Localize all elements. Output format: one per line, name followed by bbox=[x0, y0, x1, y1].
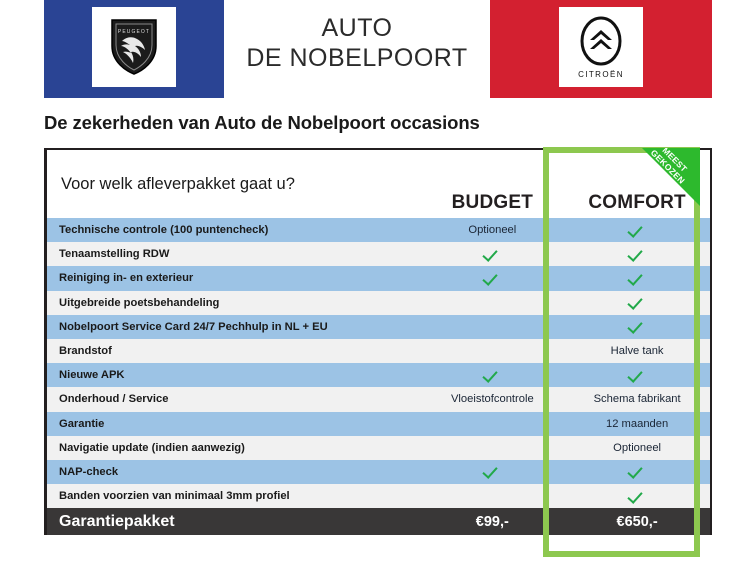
feature-value-budget: Optioneel bbox=[420, 218, 564, 242]
table-row: Nobelpoort Service Card 24/7 Pechhulp in… bbox=[47, 315, 710, 339]
check-icon bbox=[564, 460, 710, 484]
footer-price-comfort: €650,- bbox=[564, 514, 710, 530]
peugeot-brand-block: PEUGEOT bbox=[44, 0, 224, 98]
page-title: De zekerheden van Auto de Nobelpoort occ… bbox=[44, 112, 480, 134]
citroen-brand-block: CITROËN bbox=[490, 0, 712, 98]
feature-value-comfort: 12 maanden bbox=[564, 412, 710, 436]
check-icon bbox=[564, 484, 710, 508]
feature-value-comfort: Schema fabrikant bbox=[564, 387, 710, 411]
check-icon bbox=[564, 291, 710, 315]
check-icon bbox=[420, 460, 564, 484]
table-row: NAP-check bbox=[47, 460, 710, 484]
table-row: Uitgebreide poetsbehandeling bbox=[47, 291, 710, 315]
feature-value-budget bbox=[420, 339, 564, 363]
table-row: Navigatie update (indien aanwezig)Option… bbox=[47, 436, 710, 460]
feature-label: Nobelpoort Service Card 24/7 Pechhulp in… bbox=[47, 321, 420, 333]
check-icon-glyph bbox=[629, 224, 646, 237]
feature-value-budget: Vloeistofcontrole bbox=[420, 387, 564, 411]
feature-label: Tenaamstelling RDW bbox=[47, 248, 420, 260]
check-icon bbox=[420, 363, 564, 387]
feature-value-budget bbox=[420, 315, 564, 339]
footer-label: Garantiepakket bbox=[47, 513, 420, 531]
check-icon-glyph bbox=[484, 248, 501, 261]
feature-label: Technische controle (100 puntencheck) bbox=[47, 224, 420, 236]
feature-label: Navigatie update (indien aanwezig) bbox=[47, 442, 420, 454]
feature-label: Onderhoud / Service bbox=[47, 393, 420, 405]
check-icon-glyph bbox=[484, 465, 501, 478]
company-title-line-1: AUTO bbox=[322, 13, 393, 43]
feature-value-comfort: Halve tank bbox=[564, 339, 710, 363]
table-row: Onderhoud / ServiceVloeistofcontroleSche… bbox=[47, 387, 710, 411]
check-icon bbox=[420, 242, 564, 266]
check-icon-glyph bbox=[629, 248, 646, 261]
feature-value-comfort: Optioneel bbox=[564, 436, 710, 460]
check-icon bbox=[564, 315, 710, 339]
company-title-line-2: DE NOBELPOORT bbox=[246, 43, 467, 73]
table-row: BrandstofHalve tank bbox=[47, 339, 710, 363]
table-question: Voor welk afleverpakket gaat u? bbox=[47, 150, 420, 218]
feature-value-budget bbox=[420, 436, 564, 460]
feature-label: Uitgebreide poetsbehandeling bbox=[47, 297, 420, 309]
feature-label: Garantie bbox=[47, 418, 420, 430]
most-chosen-ribbon: MEEST GEKOZEN bbox=[642, 148, 700, 206]
feature-label: Reiniging in- en exterieur bbox=[47, 272, 420, 284]
feature-value-budget bbox=[420, 484, 564, 508]
price-footer-row: Garantiepakket €99,- €650,- bbox=[47, 508, 710, 535]
table-row: Tenaamstelling RDW bbox=[47, 242, 710, 266]
brand-header-banner: PEUGEOT AUTO DE NOBELPOORT CITROËN bbox=[44, 0, 712, 98]
package-comparison-table: Voor welk afleverpakket gaat u? BUDGET C… bbox=[44, 148, 712, 535]
table-row: Garantie12 maanden bbox=[47, 412, 710, 436]
feature-label: Brandstof bbox=[47, 345, 420, 357]
table-row: Reiniging in- en exterieur bbox=[47, 266, 710, 290]
check-icon-glyph bbox=[484, 272, 501, 285]
peugeot-logo-tile: PEUGEOT bbox=[92, 7, 176, 87]
company-title: AUTO DE NOBELPOORT bbox=[224, 0, 490, 98]
feature-label: NAP-check bbox=[47, 466, 420, 478]
check-icon-glyph bbox=[629, 296, 646, 309]
citroen-logo-tile: CITROËN bbox=[559, 7, 643, 87]
feature-value-budget bbox=[420, 412, 564, 436]
citroen-wordmark: CITROËN bbox=[578, 70, 624, 79]
check-icon bbox=[420, 266, 564, 290]
check-icon-glyph bbox=[629, 272, 646, 285]
check-icon bbox=[564, 363, 710, 387]
check-icon bbox=[564, 242, 710, 266]
check-icon-glyph bbox=[629, 490, 646, 503]
check-icon bbox=[564, 266, 710, 290]
column-header-budget[interactable]: BUDGET bbox=[420, 150, 564, 218]
table-row: Banden voorzien van minimaal 3mm profiel bbox=[47, 484, 710, 508]
table-row: Nieuwe APK bbox=[47, 363, 710, 387]
svg-text:PEUGEOT: PEUGEOT bbox=[118, 29, 150, 35]
check-icon-glyph bbox=[484, 369, 501, 382]
table-row: Technische controle (100 puntencheck)Opt… bbox=[47, 218, 710, 242]
check-icon-glyph bbox=[629, 465, 646, 478]
table-body: Technische controle (100 puntencheck)Opt… bbox=[47, 218, 710, 508]
feature-value-budget bbox=[420, 291, 564, 315]
table-header-row: Voor welk afleverpakket gaat u? BUDGET C… bbox=[47, 150, 710, 218]
citroen-double-chevron-icon bbox=[577, 16, 625, 68]
check-icon-glyph bbox=[629, 320, 646, 333]
footer-price-budget: €99,- bbox=[420, 514, 564, 530]
check-icon bbox=[564, 218, 710, 242]
peugeot-lion-shield-icon: PEUGEOT bbox=[108, 16, 160, 78]
feature-label: Banden voorzien van minimaal 3mm profiel bbox=[47, 490, 420, 502]
feature-label: Nieuwe APK bbox=[47, 369, 420, 381]
check-icon-glyph bbox=[629, 369, 646, 382]
